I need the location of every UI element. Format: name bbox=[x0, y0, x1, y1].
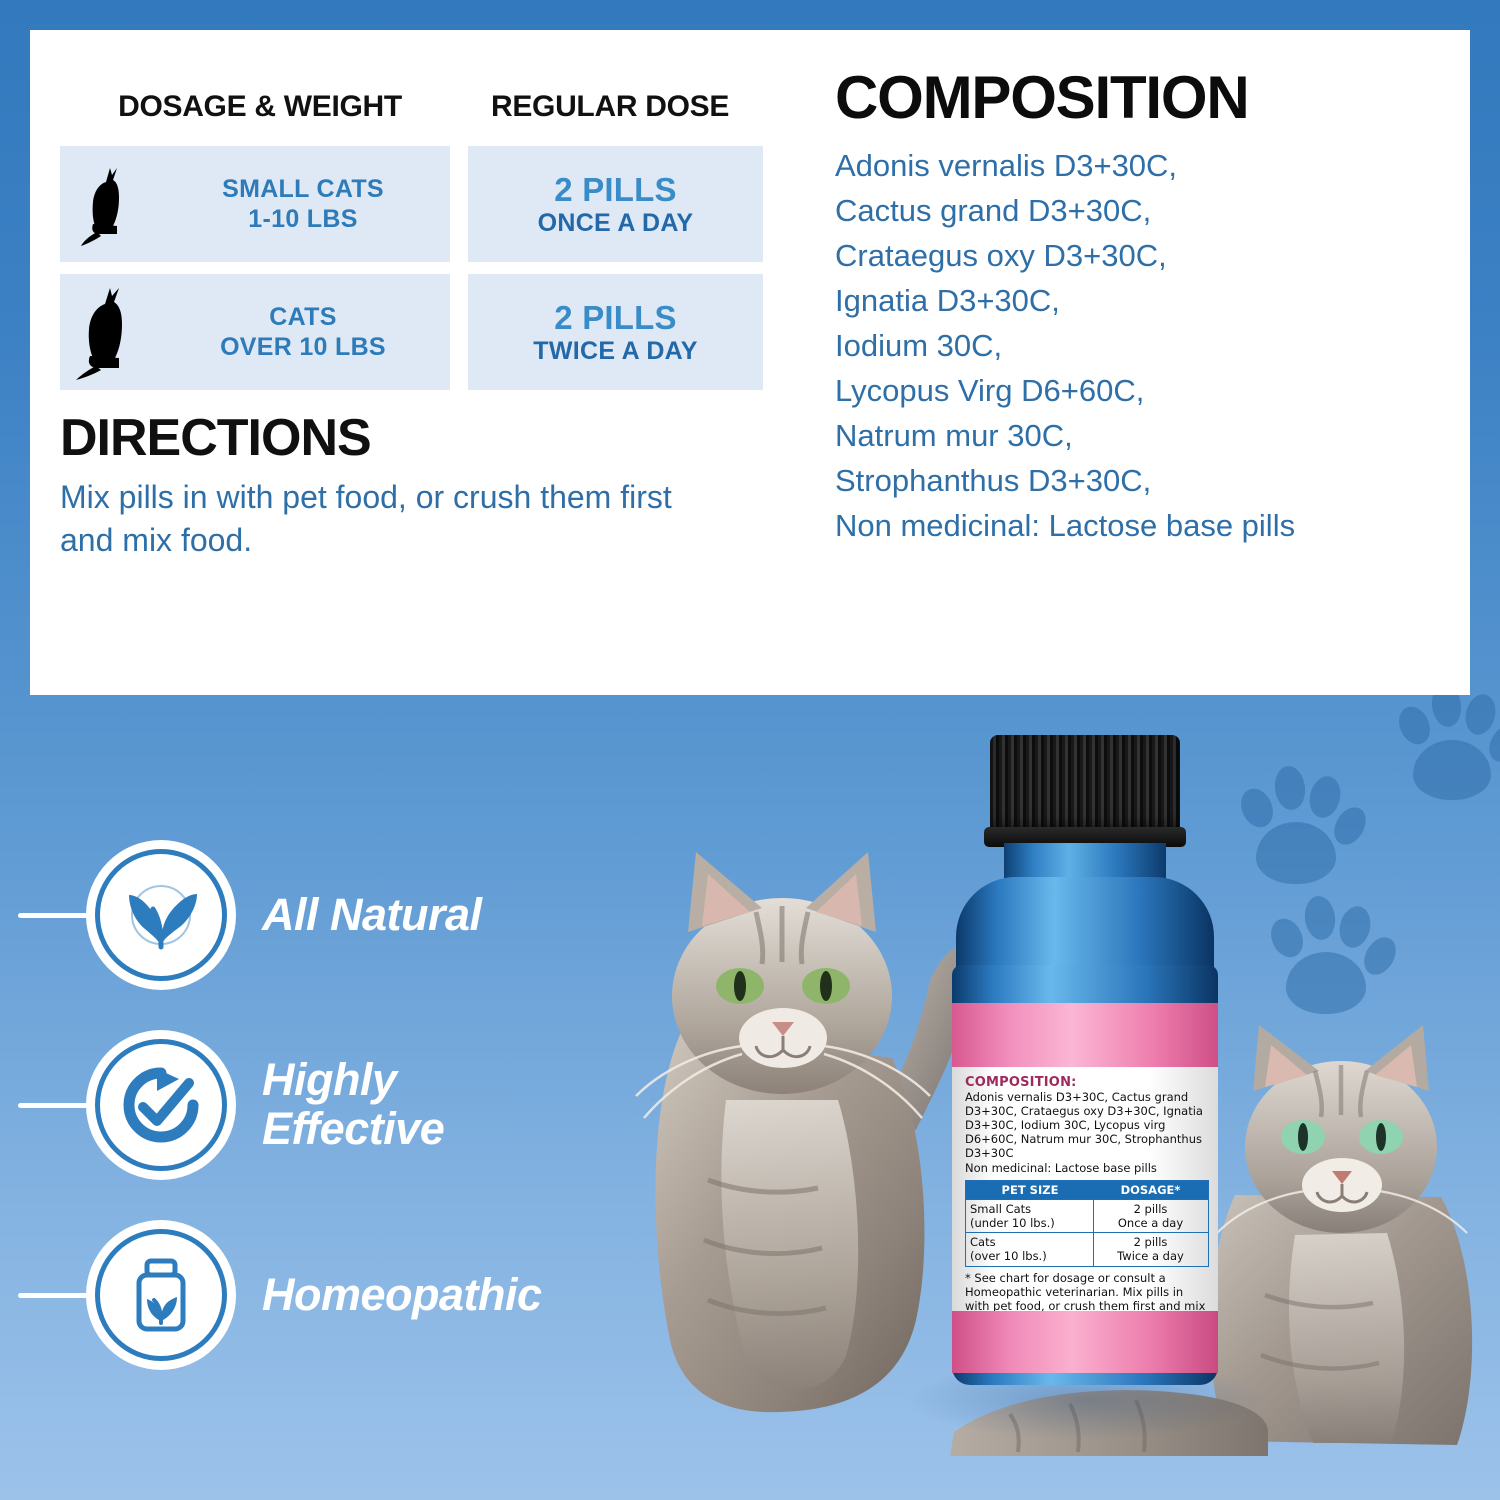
paw-print-icon bbox=[1270, 890, 1390, 1020]
bottle-th-dosage: DOSAGE* bbox=[1094, 1181, 1207, 1199]
bottle-composition-body: Adonis vernalis D3+30C, Cactus grand D3+… bbox=[965, 1091, 1207, 1161]
bottle-td-dosage: 2 pills Once a day bbox=[1094, 1200, 1207, 1232]
directions-body: Mix pills in with pet food, or crush the… bbox=[60, 476, 700, 562]
feature-badge-all-natural: All Natural bbox=[0, 820, 660, 1010]
bottle-table-header-row: PET SIZE DOSAGE* bbox=[966, 1181, 1208, 1199]
size-line-1: CATS bbox=[156, 302, 450, 333]
dosage-table: SMALL CATS 1-10 LBS 2 PILLS ONCE A DAY bbox=[60, 146, 800, 390]
dosage-dose-cell: 2 PILLS TWICE A DAY bbox=[468, 274, 763, 390]
dosage-dose-cell: 2 PILLS ONCE A DAY bbox=[468, 146, 763, 262]
dosage-size-cell: CATS OVER 10 LBS bbox=[60, 274, 450, 390]
table-row: Cats (over 10 lbs.) 2 pills Twice a day bbox=[966, 1232, 1208, 1265]
table-row: CATS OVER 10 LBS 2 PILLS TWICE A DAY bbox=[60, 274, 800, 390]
bottle-composition-heading: COMPOSITION: bbox=[965, 1075, 1207, 1090]
table-row: Small Cats (under 10 lbs.) 2 pills Once … bbox=[966, 1199, 1208, 1232]
dose-line-1: 2 PILLS bbox=[554, 171, 676, 209]
size-line-2: OVER 10 LBS bbox=[156, 332, 450, 363]
bottle-dosage-table: PET SIZE DOSAGE* Small Cats (under 10 lb… bbox=[965, 1180, 1209, 1266]
bottle-th-pet-size: PET SIZE bbox=[966, 1181, 1094, 1199]
list-item: Non medicinal: Lactose base pills bbox=[835, 504, 1475, 549]
feature-label: Homeopathic bbox=[262, 1271, 542, 1320]
info-panel: DOSAGE & WEIGHT REGULAR DOSE bbox=[30, 30, 1470, 695]
feature-badge-list: All Natural Highly Effective bbox=[0, 820, 660, 1390]
directions-heading: DIRECTIONS bbox=[60, 412, 800, 464]
dosage-section: DOSAGE & WEIGHT REGULAR DOSE bbox=[60, 90, 800, 562]
feature-badge-highly-effective: Highly Effective bbox=[0, 1010, 660, 1200]
cat-photo-left bbox=[630, 800, 990, 1420]
leaf-plant-icon bbox=[86, 840, 236, 990]
dose-line-2: ONCE A DAY bbox=[538, 209, 694, 238]
composition-list: Adonis vernalis D3+30C, Cactus grand D3+… bbox=[835, 144, 1475, 548]
feature-label: Highly Effective bbox=[262, 1056, 444, 1153]
list-item: Ignatia D3+30C, bbox=[835, 279, 1475, 324]
size-line-1: SMALL CATS bbox=[156, 174, 450, 205]
refresh-check-icon bbox=[86, 1030, 236, 1180]
list-item: Strophanthus D3+30C, bbox=[835, 459, 1475, 504]
bottle-footnote: * See chart for dosage or consult a Home… bbox=[965, 1271, 1207, 1316]
feature-badge-homeopathic: Homeopathic bbox=[0, 1200, 660, 1390]
composition-section: COMPOSITION Adonis vernalis D3+30C, Cact… bbox=[835, 68, 1475, 548]
infographic-canvas: DOSAGE & WEIGHT REGULAR DOSE bbox=[0, 0, 1500, 1500]
size-line-2: 1-10 LBS bbox=[156, 204, 450, 235]
dosage-size-text: CATS OVER 10 LBS bbox=[156, 302, 450, 363]
list-item: Lycopus Virg D6+60C, bbox=[835, 369, 1475, 414]
bottle-td-dosage: 2 pills Twice a day bbox=[1094, 1233, 1207, 1265]
dose-line-2: TWICE A DAY bbox=[533, 337, 697, 366]
bottle-label-pink-bottom bbox=[952, 1311, 1218, 1373]
list-item: Iodium 30C, bbox=[835, 324, 1475, 369]
dosage-table-header: DOSAGE & WEIGHT REGULAR DOSE bbox=[60, 90, 800, 124]
cat-silhouette-large-icon bbox=[60, 284, 156, 380]
bottle-label-white: COMPOSITION: Adonis vernalis D3+30C, Cac… bbox=[952, 1067, 1218, 1315]
bottle-td-size: Small Cats (under 10 lbs.) bbox=[966, 1200, 1094, 1232]
bottle-td-size: Cats (over 10 lbs.) bbox=[966, 1233, 1094, 1265]
pill-bottle-leaf-icon bbox=[86, 1220, 236, 1370]
dosage-size-cell: SMALL CATS 1-10 LBS bbox=[60, 146, 450, 262]
bottle-label-pink-top bbox=[952, 1003, 1218, 1071]
list-item: Natrum mur 30C, bbox=[835, 414, 1475, 459]
bottle-non-medicinal: Non medicinal: Lactose base pills bbox=[965, 1162, 1207, 1176]
bottle-cap bbox=[990, 735, 1180, 833]
column-header-dosage-weight: DOSAGE & WEIGHT bbox=[60, 90, 460, 124]
paw-print-icon bbox=[1240, 760, 1360, 890]
composition-heading: COMPOSITION bbox=[835, 68, 1475, 128]
dosage-size-text: SMALL CATS 1-10 LBS bbox=[156, 174, 450, 235]
list-item: Cactus grand D3+30C, bbox=[835, 189, 1475, 234]
feature-label: All Natural bbox=[262, 891, 482, 940]
list-item: Crataegus oxy D3+30C, bbox=[835, 234, 1475, 279]
product-bottle: COMPOSITION: Adonis vernalis D3+30C, Cac… bbox=[938, 735, 1228, 1415]
column-header-regular-dose: REGULAR DOSE bbox=[460, 90, 760, 124]
list-item: Adonis vernalis D3+30C, bbox=[835, 144, 1475, 189]
table-row: SMALL CATS 1-10 LBS 2 PILLS ONCE A DAY bbox=[60, 146, 800, 262]
cat-silhouette-small-icon bbox=[60, 162, 156, 246]
dose-line-1: 2 PILLS bbox=[554, 299, 676, 337]
paw-print-icon bbox=[1398, 680, 1500, 808]
